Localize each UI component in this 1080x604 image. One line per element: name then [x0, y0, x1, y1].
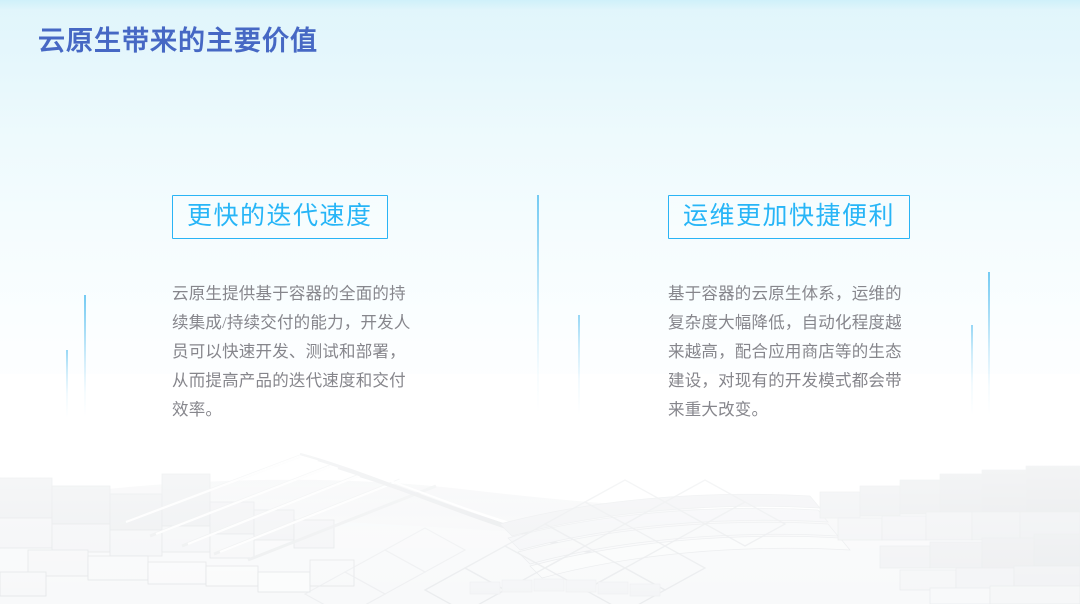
accent-line-right-short: [971, 325, 973, 415]
accent-line-left-tall: [84, 295, 86, 417]
body-paragraph-right: 基于容器的云原生体系，运维的复杂度大幅降低，自动化程度越来越高，配合应用商店等的…: [668, 279, 916, 424]
value-column-right: 运维更加快捷便利 基于容器的云原生体系，运维的复杂度大幅降低，自动化程度越来越高…: [668, 195, 918, 424]
abstract-3d-landscape-background: [0, 374, 1080, 604]
top-haze-gradient: [0, 0, 1080, 10]
heading-box-right: 运维更加快捷便利: [668, 195, 910, 239]
value-column-left: 更快的迭代速度 云原生提供基于容器的全面的持续集成/持续交付的能力，开发人员可以…: [172, 195, 422, 424]
slide-canvas: 云原生带来的主要价值 更快的迭代速度 云原生提供基于容器的全面的持续集成/持续交…: [0, 0, 1080, 604]
heading-label-left: 更快的迭代速度: [187, 201, 373, 231]
accent-line-middle-tall: [537, 195, 539, 413]
accent-line-right-tall: [988, 272, 990, 415]
accent-line-left-short: [66, 350, 68, 418]
body-paragraph-left: 云原生提供基于容器的全面的持续集成/持续交付的能力，开发人员可以快速开发、测试和…: [172, 279, 420, 424]
heading-box-left: 更快的迭代速度: [172, 195, 388, 239]
page-title: 云原生带来的主要价值: [38, 22, 318, 60]
heading-label-right: 运维更加快捷便利: [683, 201, 895, 231]
accent-line-middle-short: [578, 315, 580, 415]
